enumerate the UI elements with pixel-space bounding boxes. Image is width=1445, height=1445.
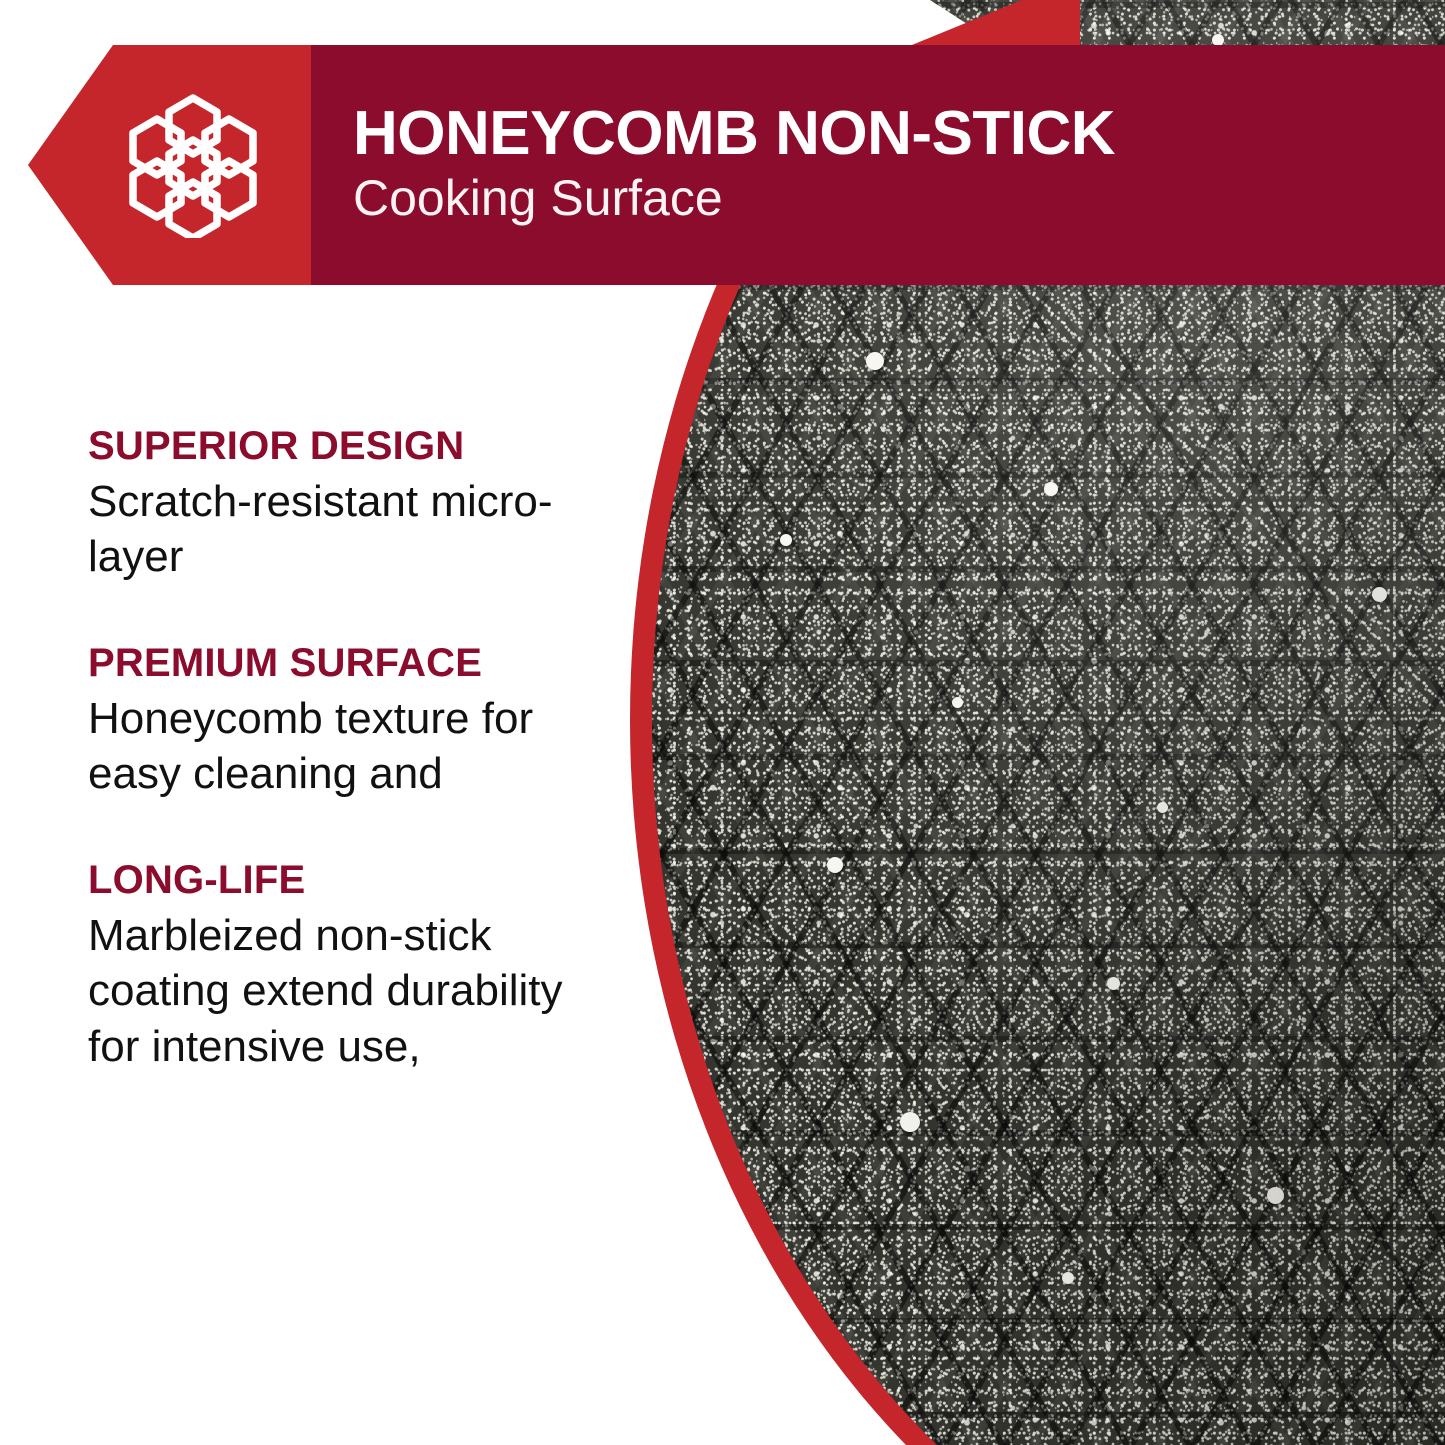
feature-title: LONG-LIFE xyxy=(88,858,608,902)
header-banner: HONEYCOMB NON-STICK Cooking Surface xyxy=(28,45,1445,285)
feature-title: PREMIUM SURFACE xyxy=(88,641,608,685)
banner-text-block: HONEYCOMB NON-STICK Cooking Surface xyxy=(311,45,1445,285)
honeycomb-icon xyxy=(127,92,259,238)
feature-body: Honeycomb texture for easy cleaning and xyxy=(88,691,608,802)
feature-item: LONG-LIFE Marbleized non-stick coating e… xyxy=(88,858,608,1074)
infographic-canvas: HONEYCOMB NON-STICK Cooking Surface SUPE… xyxy=(0,0,1445,1445)
feature-list: SUPERIOR DESIGN Scratch-resistant micro-… xyxy=(88,424,608,1074)
feature-title: SUPERIOR DESIGN xyxy=(88,424,608,468)
banner-arrow-badge xyxy=(28,45,311,285)
feature-body: Scratch-resistant micro-layer xyxy=(88,474,608,585)
feature-body: Marbleized non-stick coating extend dura… xyxy=(88,908,608,1074)
feature-item: PREMIUM SURFACE Honeycomb texture for ea… xyxy=(88,641,608,802)
page-subtitle: Cooking Surface xyxy=(353,169,1445,228)
page-title: HONEYCOMB NON-STICK xyxy=(353,102,1445,165)
feature-item: SUPERIOR DESIGN Scratch-resistant micro-… xyxy=(88,424,608,585)
